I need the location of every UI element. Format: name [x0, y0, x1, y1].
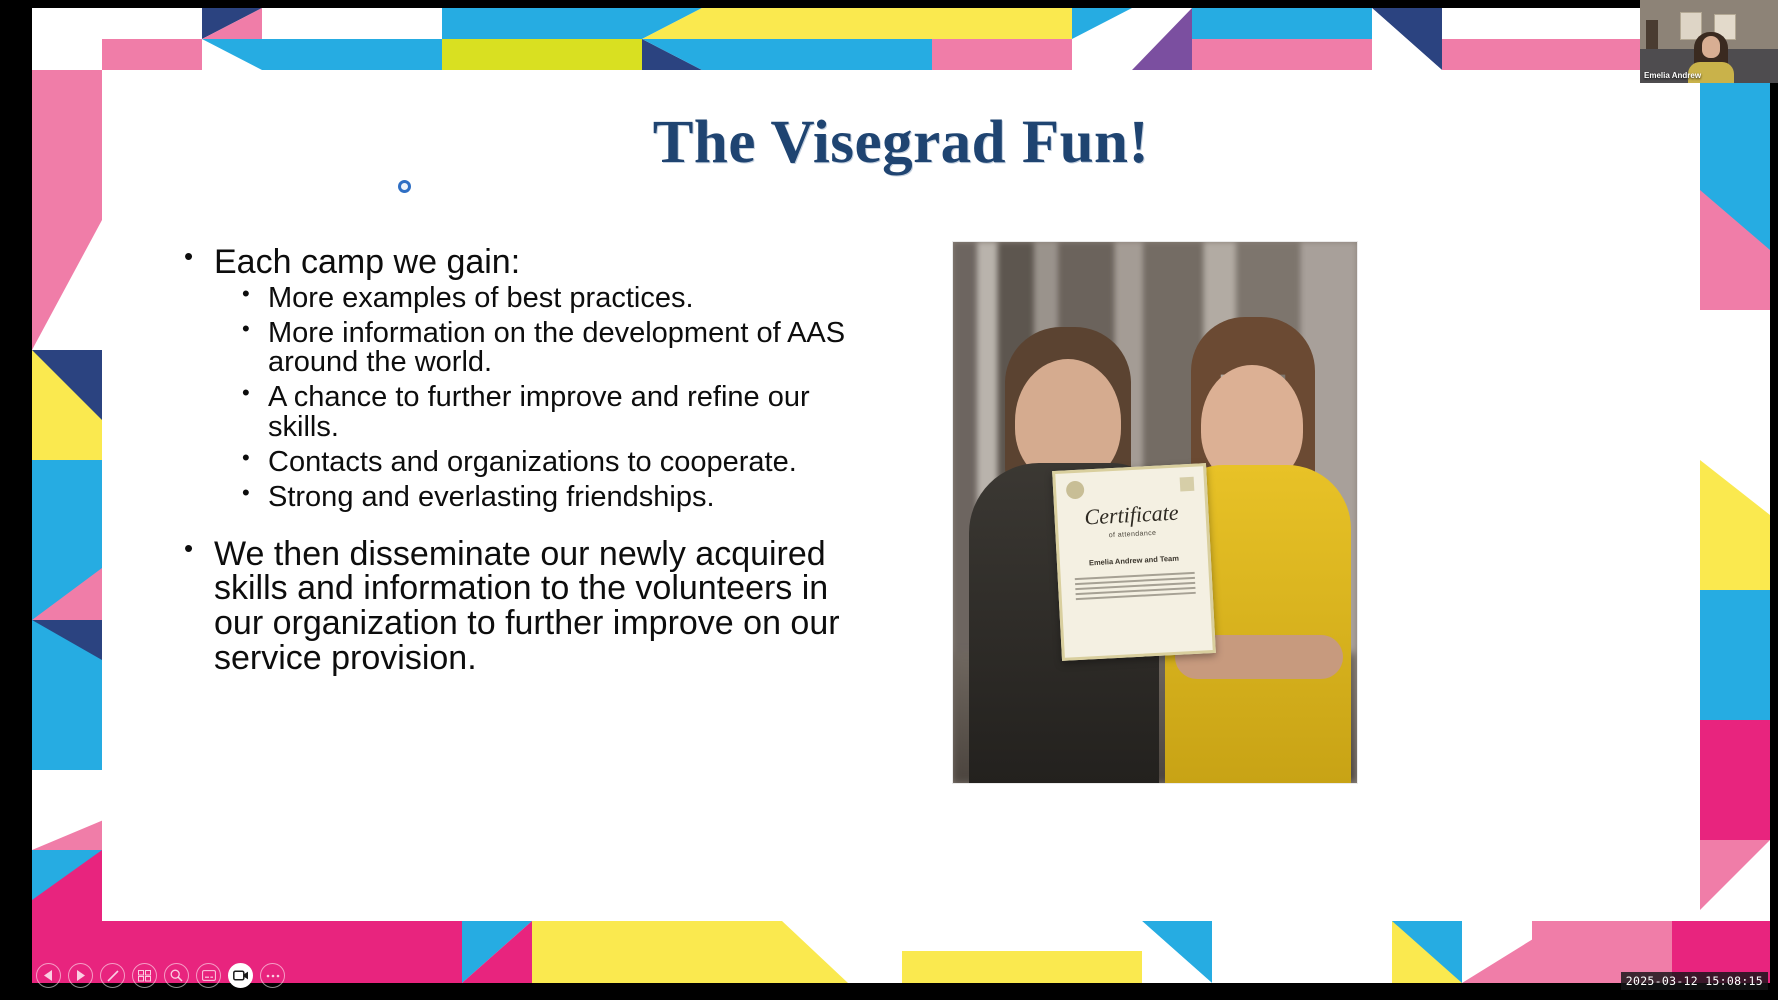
bullet-list-level1: Each camp we gain: More examples of best… — [184, 245, 874, 675]
participant-name-label: Emelia Andrew — [1644, 71, 1701, 80]
pen-icon — [106, 969, 120, 983]
certificate-seal-icon — [1066, 481, 1085, 500]
slide-photo: Certificate of attendance Emelia Andrew … — [953, 242, 1357, 783]
decorative-border-bottom — [32, 921, 1770, 983]
list-item: More information on the development of A… — [242, 319, 874, 379]
list-item: Contacts and organizations to cooperate. — [242, 448, 874, 478]
subtitles-icon — [202, 970, 216, 981]
presentation-toolbar[interactable] — [36, 963, 285, 988]
more-options-button[interactable] — [260, 963, 285, 988]
list-item: We then disseminate our newly acquired s… — [184, 537, 874, 676]
page-title: The Visegrad Fun! — [102, 108, 1700, 178]
certificate-logo-icon — [1180, 477, 1195, 492]
presentation-screen: The Visegrad Fun! Each camp we gain: Mor… — [0, 0, 1778, 1000]
grid-icon — [138, 970, 152, 982]
decorative-border-left — [32, 8, 102, 983]
list-item: More examples of best practices. — [242, 284, 874, 314]
list-item: A chance to further improve and refine o… — [242, 383, 874, 443]
list-item: Each camp we gain: — [184, 245, 874, 280]
slide-canvas: The Visegrad Fun! Each camp we gain: Mor… — [102, 70, 1700, 921]
certificate-title: Certificate — [1065, 499, 1198, 532]
webcam-thumbnail[interactable]: Emelia Andrew — [1640, 0, 1778, 83]
subtitles-button[interactable] — [196, 963, 221, 988]
decorative-border-right — [1700, 8, 1770, 983]
decorative-border-top — [32, 8, 1770, 70]
list-item: Strong and everlasting friendships. — [242, 483, 874, 513]
magnifier-icon — [170, 969, 183, 982]
slide-body: Each camp we gain: More examples of best… — [184, 245, 874, 679]
pen-tools-button[interactable] — [100, 963, 125, 988]
chevron-right-icon — [76, 970, 85, 981]
certificate-recipient: Emelia Andrew and Team — [1068, 553, 1200, 569]
camera-button[interactable] — [228, 963, 253, 988]
ellipsis-icon — [266, 974, 280, 978]
zoom-slide-button[interactable] — [164, 963, 189, 988]
all-slides-button[interactable] — [132, 963, 157, 988]
next-slide-button[interactable] — [68, 963, 93, 988]
laser-pointer-icon — [398, 180, 411, 193]
certificate-body-lines — [1069, 572, 1202, 601]
bullet-list-level2: More examples of best practices. More in… — [242, 284, 874, 513]
chevron-left-icon — [44, 970, 53, 981]
slide-frame: The Visegrad Fun! Each camp we gain: Mor… — [32, 8, 1770, 983]
video-camera-icon — [233, 970, 249, 981]
previous-slide-button[interactable] — [36, 963, 61, 988]
certificate-document: Certificate of attendance Emelia Andrew … — [1052, 463, 1216, 661]
webcam-person-face — [1702, 36, 1720, 58]
recording-timestamp: 2025-03-12 15:08:15 — [1621, 972, 1768, 990]
